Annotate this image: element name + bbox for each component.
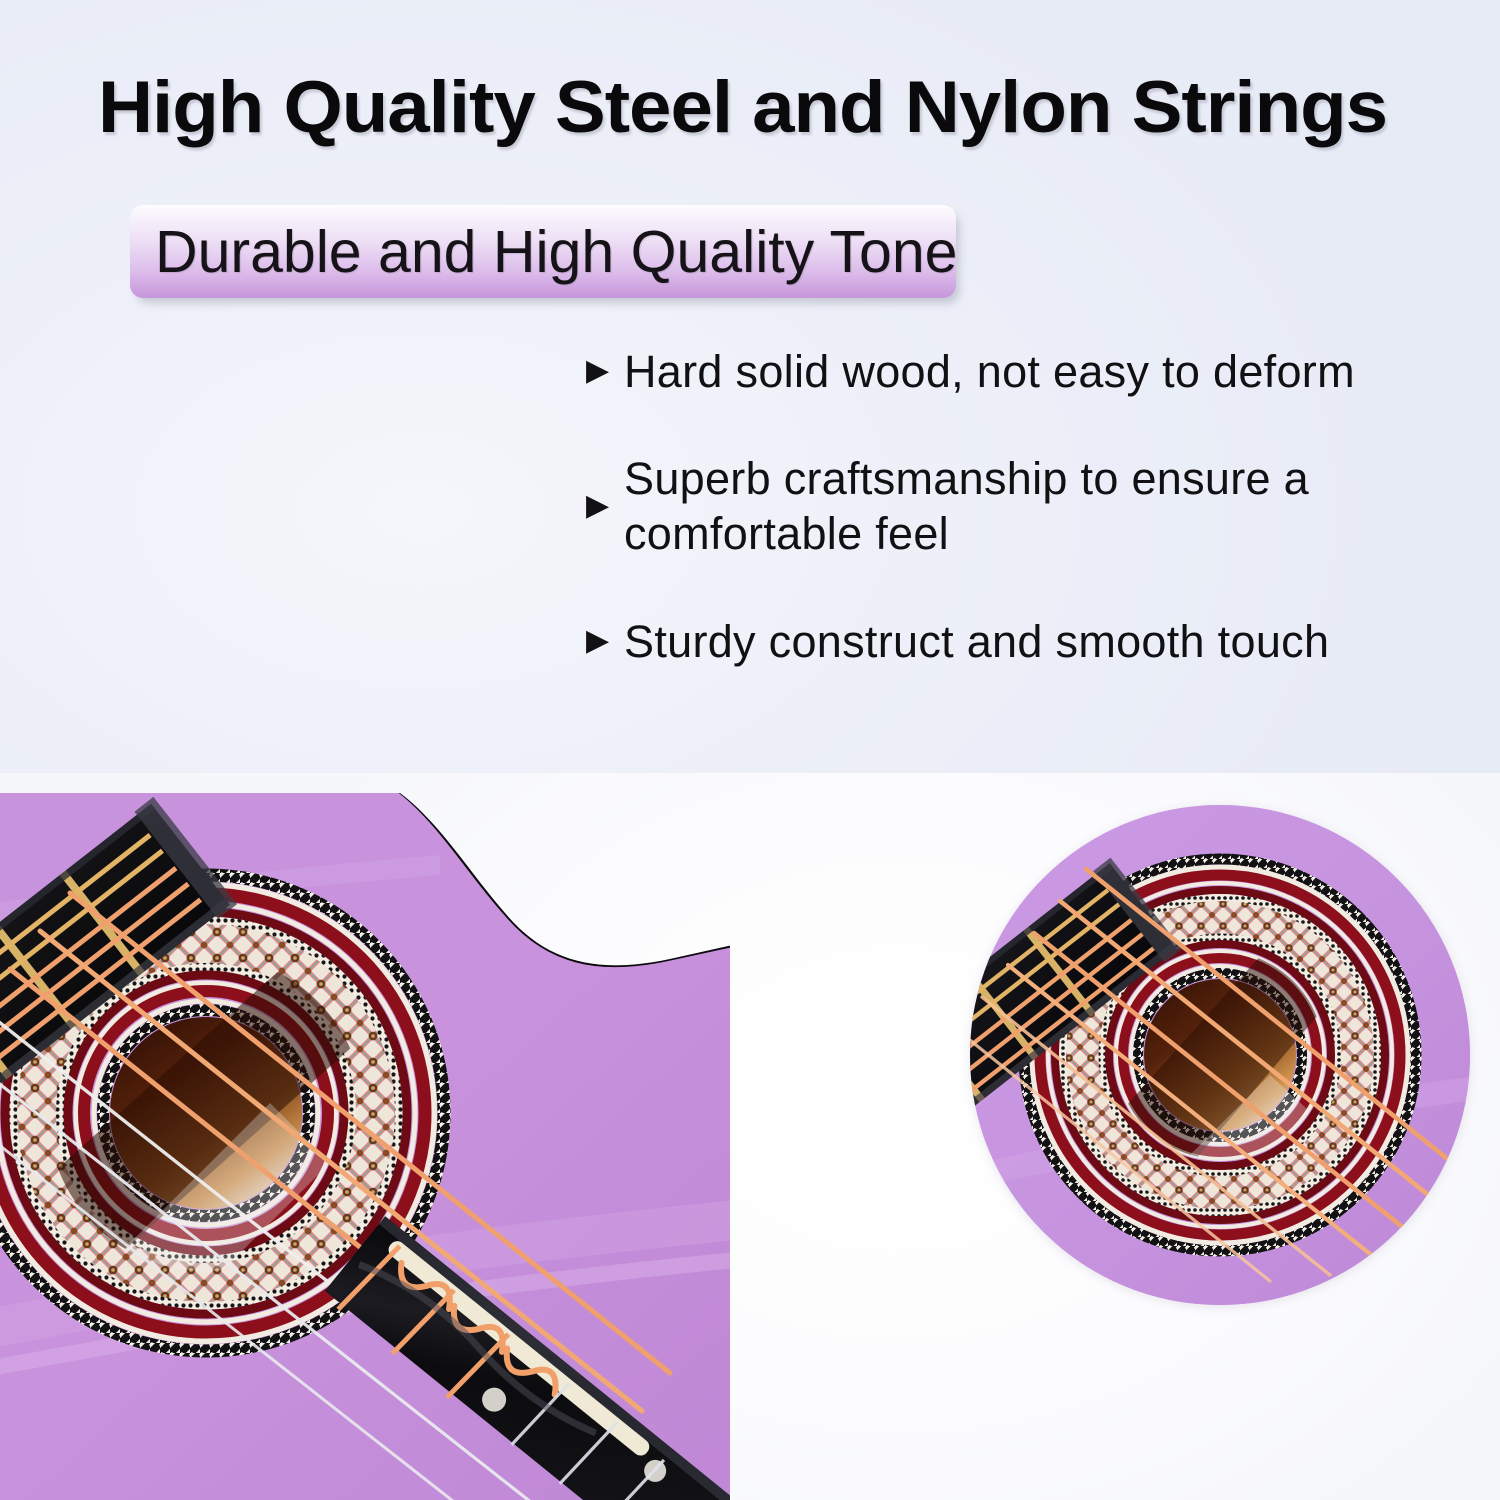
triangle-right-icon: ▶ (586, 356, 616, 386)
list-item: ▶ Superb craftsmanship to ensure a comfo… (586, 450, 1486, 562)
list-item-label: Superb craftsmanship to ensure a comfort… (624, 451, 1309, 561)
soundhole-rosette-detail-circle (970, 805, 1470, 1305)
triangle-right-icon: ▶ (586, 491, 616, 521)
guitar-body-illustration (0, 773, 730, 1500)
list-item: ▶ Sturdy construct and smooth touch (586, 612, 1486, 670)
status-badge-label: Durable and High Quality Tone (155, 219, 956, 285)
triangle-right-icon: ▶ (586, 626, 616, 656)
rosette-detail-illustration (970, 805, 1470, 1305)
text-content-area: High Quality Steel and Nylon Strings Dur… (0, 0, 1500, 773)
list-item-label: Sturdy construct and smooth touch (624, 614, 1329, 669)
feature-list: ▶ Hard solid wood, not easy to deform ▶ … (586, 342, 1486, 670)
list-item: ▶ Hard solid wood, not easy to deform (586, 342, 1486, 400)
product-feature-panel: High Quality Steel and Nylon Strings Dur… (0, 0, 1500, 1500)
page-title: High Quality Steel and Nylon Strings (98, 64, 1500, 152)
status-badge: Durable and High Quality Tone (130, 205, 956, 298)
list-item-label: Hard solid wood, not easy to deform (624, 344, 1355, 399)
product-photo-band (0, 773, 1500, 1500)
purple-guitar-soundhole-photo (0, 773, 730, 1500)
